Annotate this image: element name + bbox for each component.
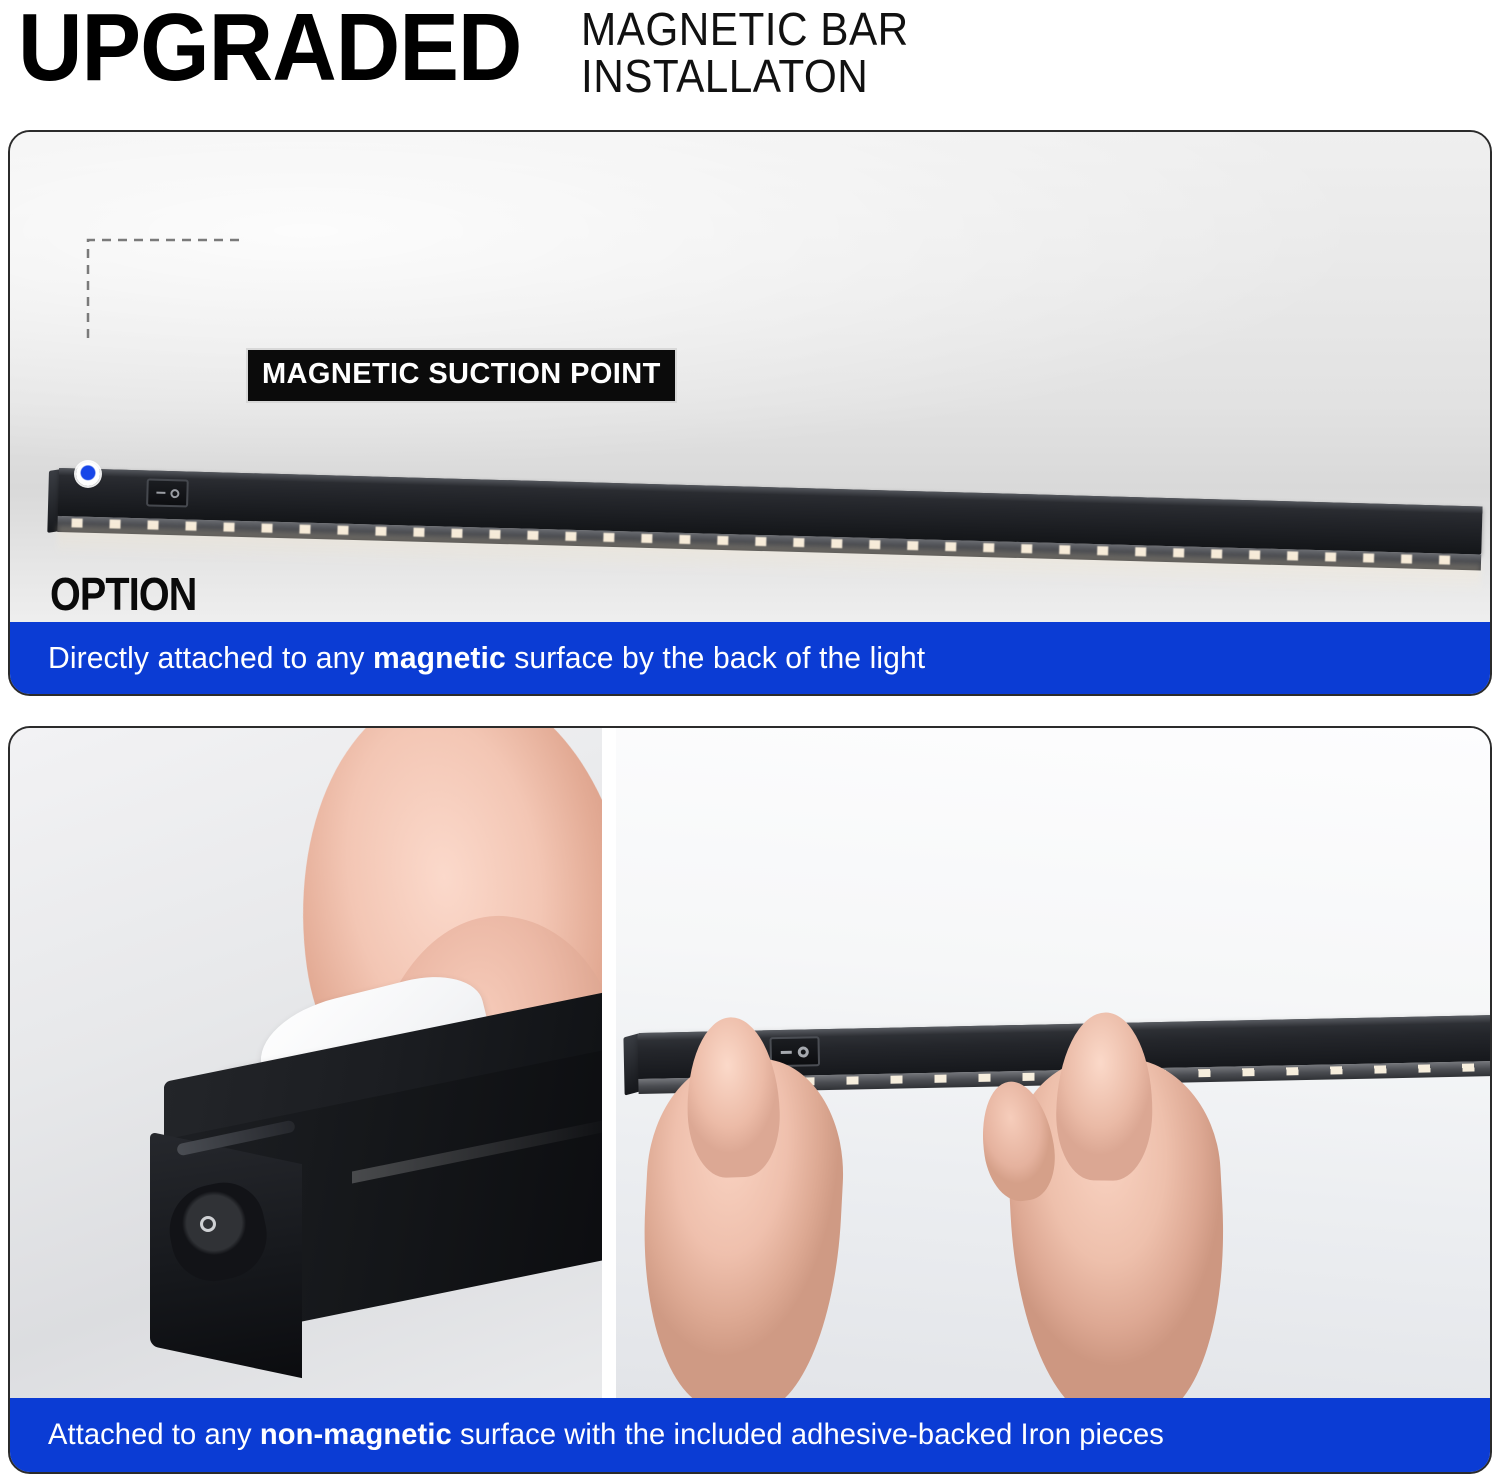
switch-off-mark bbox=[170, 489, 179, 498]
caption-text-bold: non-magnetic bbox=[260, 1418, 452, 1451]
page-subtitle-line-1: MAGNETIC BAR bbox=[581, 6, 909, 53]
page-title: UPGRADED bbox=[18, 2, 521, 94]
option-02-caption: Attached to any non-magnetic surface wit… bbox=[48, 1418, 1164, 1452]
photo-divider bbox=[602, 728, 616, 1402]
switch-on-mark bbox=[156, 492, 165, 494]
option-02-caption-bar: Attached to any non-magnetic surface wit… bbox=[10, 1398, 1490, 1472]
page-subtitle-line-2: INSTALLATON bbox=[581, 53, 909, 100]
right-hand bbox=[1003, 1053, 1234, 1402]
caption-text-bold: magnetic bbox=[373, 640, 506, 675]
option-01-caption-bar: Directly attached to any magnetic surfac… bbox=[10, 622, 1490, 694]
power-switch-icon bbox=[146, 478, 189, 507]
page-subtitle: MAGNETIC BAR INSTALLATON bbox=[581, 6, 909, 100]
option-02-panel: 0.3 - 0.7 inch NOTE: The magnetic points… bbox=[8, 726, 1492, 1474]
magnetic-suction-point-label: MAGNETIC SUCTION POINT bbox=[246, 348, 677, 403]
page-header: UPGRADED MAGNETIC BAR INSTALLATON bbox=[0, 0, 1500, 118]
option-02-right-photo bbox=[616, 728, 1492, 1402]
switch-on-mark bbox=[781, 1050, 792, 1053]
option-01-caption: Directly attached to any magnetic surfac… bbox=[48, 640, 925, 676]
port-hole-icon bbox=[200, 1216, 216, 1232]
caption-text-after: surface by the back of the light bbox=[506, 640, 925, 675]
light-bar-end-view bbox=[152, 1088, 602, 1356]
option-02-left-photo bbox=[10, 728, 602, 1402]
caption-text-after: surface with the included adhesive-backe… bbox=[452, 1418, 1164, 1451]
switch-off-mark bbox=[798, 1046, 809, 1057]
caption-text-before: Attached to any bbox=[48, 1418, 260, 1451]
caption-text-before: Directly attached to any bbox=[48, 640, 373, 675]
option-01-panel: MAGNETIC SUCTION POINT OPTION 01 Directl… bbox=[8, 130, 1492, 696]
magnetic-suction-point-dot bbox=[76, 462, 100, 486]
option-01-photo: MAGNETIC SUCTION POINT bbox=[10, 132, 1490, 694]
